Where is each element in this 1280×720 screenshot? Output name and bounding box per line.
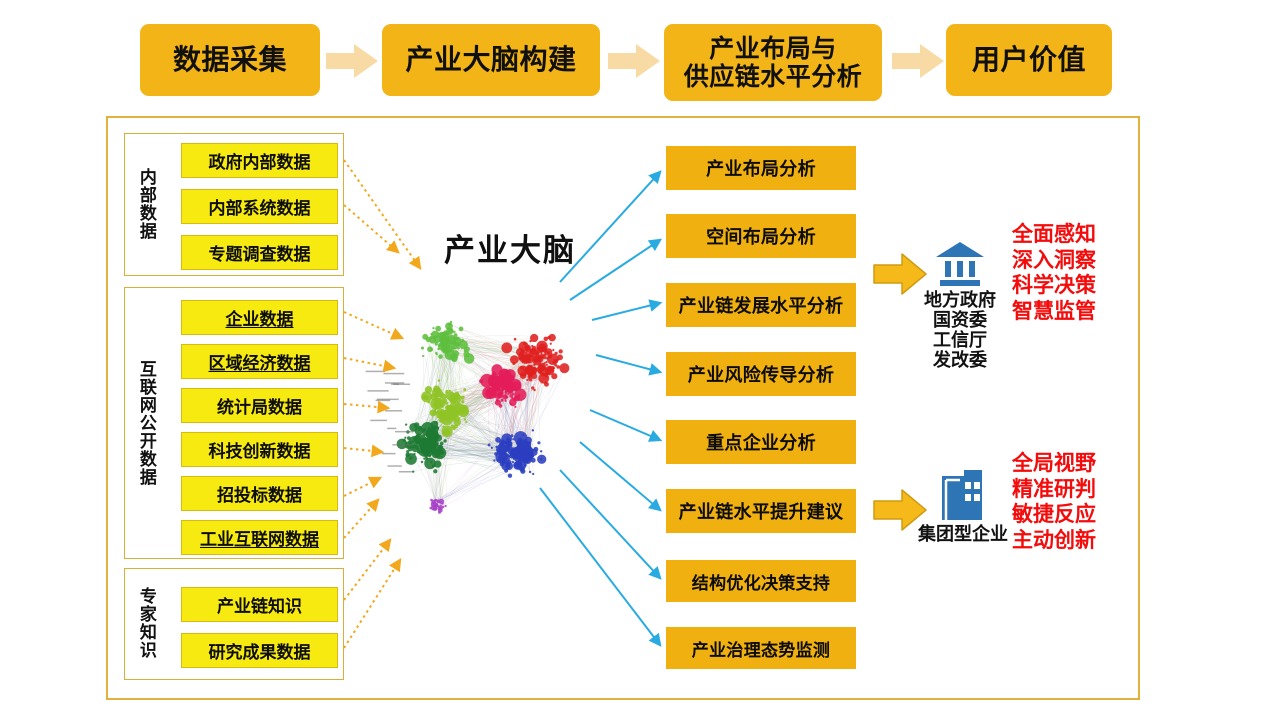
source-item-label: 区域经济数据 (209, 349, 311, 374)
source-item-government-internal-data[interactable]: 政府内部数据 (181, 143, 338, 178)
right-arrow-icon (326, 44, 378, 78)
outcome-audience-government: 地方政府 国资委 工信厅 发改委 (912, 290, 1008, 371)
source-item-regional-economy-data[interactable]: 区域经济数据 (181, 344, 338, 379)
source-item-enterprise-data[interactable]: 企业数据 (181, 300, 338, 335)
analysis-item-label: 结构优化决策支持 (692, 569, 830, 594)
analysis-item-label: 产业链发展水平分析 (679, 292, 844, 318)
source-group-internal-label: 内部数据 (134, 150, 158, 258)
source-item-label: 研究成果数据 (209, 638, 311, 663)
analysis-item-label: 空间布局分析 (706, 223, 816, 249)
benefit-line: 主动创新 (1012, 528, 1096, 554)
benefit-line: 全面感知 (1012, 222, 1096, 248)
source-item-label: 招投标数据 (217, 481, 302, 506)
source-item-label: 工业互联网数据 (200, 525, 319, 550)
audience-line: 集团型企业 (908, 524, 1018, 544)
source-item-industrial-internet-data[interactable]: 工业互联网数据 (181, 520, 338, 555)
brain-title: 产业大脑 (444, 225, 576, 270)
analysis-item-label: 产业布局分析 (706, 155, 816, 181)
office-building-icon (936, 468, 988, 522)
source-item-label: 统计局数据 (217, 393, 302, 418)
header-step-1-label: 数据采集 (173, 44, 287, 75)
benefit-line: 科学决策 (1012, 273, 1096, 299)
source-item-research-results-data[interactable]: 研究成果数据 (181, 633, 338, 668)
diagram-root: 数据采集 产业大脑构建 产业布局与 供应链水平分析 用户价值 内部数据 政府内部… (0, 0, 1280, 720)
source-item-label: 科技创新数据 (209, 437, 311, 462)
analysis-item-label: 重点企业分析 (706, 429, 816, 455)
analysis-item-chain-development-level[interactable]: 产业链发展水平分析 (666, 283, 856, 327)
analysis-item-risk-transmission[interactable]: 产业风险传导分析 (666, 352, 856, 396)
source-group-expert-knowledge-label: 专家知识 (134, 583, 158, 663)
analysis-item-label: 产业风险传导分析 (688, 361, 834, 387)
analysis-item-chain-upgrade-advice[interactable]: 产业链水平提升建议 (666, 489, 856, 533)
right-arrow-icon (608, 44, 660, 78)
source-group-internet-public-label: 互联网公开数据 (134, 348, 158, 498)
network-graph-icon (352, 275, 602, 530)
analysis-item-label: 产业治理态势监测 (692, 636, 830, 661)
source-item-statistics-bureau-data[interactable]: 统计局数据 (181, 388, 338, 423)
outcome-benefits-government: 全面感知 深入洞察 科学决策 智慧监管 (1012, 222, 1096, 324)
benefit-line: 全局视野 (1012, 451, 1096, 477)
audience-line: 工信厅 (912, 330, 1008, 350)
source-item-label: 政府内部数据 (209, 148, 311, 173)
benefit-line: 智慧监管 (1012, 299, 1096, 325)
benefit-line: 精准研判 (1012, 477, 1096, 503)
benefit-line: 敏捷反应 (1012, 502, 1096, 528)
header-step-2-label: 产业大脑构建 (405, 44, 576, 75)
benefit-line: 深入洞察 (1012, 248, 1096, 274)
source-item-label: 专题调查数据 (209, 240, 311, 265)
audience-line: 国资委 (912, 310, 1008, 330)
right-arrow-icon (892, 44, 944, 78)
outcome-audience-enterprise: 集团型企业 (908, 524, 1018, 544)
source-item-label: 产业链知识 (217, 592, 302, 617)
header-step-4-label: 用户价值 (972, 44, 1086, 75)
header-step-3[interactable]: 产业布局与 供应链水平分析 (664, 24, 882, 101)
header-step-3-label: 产业布局与 供应链水平分析 (684, 35, 863, 91)
audience-line: 地方政府 (912, 290, 1008, 310)
analysis-item-structure-optimization[interactable]: 结构优化决策支持 (666, 560, 856, 602)
source-item-label: 企业数据 (226, 305, 294, 330)
analysis-item-industry-layout[interactable]: 产业布局分析 (666, 146, 856, 190)
analysis-item-label: 产业链水平提升建议 (679, 498, 844, 524)
analysis-item-governance-monitoring[interactable]: 产业治理态势监测 (666, 627, 856, 669)
header-step-2[interactable]: 产业大脑构建 (382, 24, 600, 96)
analysis-item-spatial-layout[interactable]: 空间布局分析 (666, 214, 856, 258)
source-item-label: 内部系统数据 (209, 194, 311, 219)
analysis-item-key-enterprise[interactable]: 重点企业分析 (666, 420, 856, 464)
header-step-1[interactable]: 数据采集 (140, 24, 320, 96)
source-item-internal-system-data[interactable]: 内部系统数据 (181, 189, 338, 224)
source-item-survey-data[interactable]: 专题调查数据 (181, 235, 338, 270)
source-item-industry-chain-knowledge[interactable]: 产业链知识 (181, 587, 338, 622)
government-bank-icon (934, 240, 986, 288)
source-item-bidding-data[interactable]: 招投标数据 (181, 476, 338, 511)
outcome-benefits-enterprise: 全局视野 精准研判 敏捷反应 主动创新 (1012, 451, 1096, 553)
header-step-4[interactable]: 用户价值 (946, 24, 1112, 96)
source-item-tech-innovation-data[interactable]: 科技创新数据 (181, 432, 338, 467)
audience-line: 发改委 (912, 350, 1008, 370)
